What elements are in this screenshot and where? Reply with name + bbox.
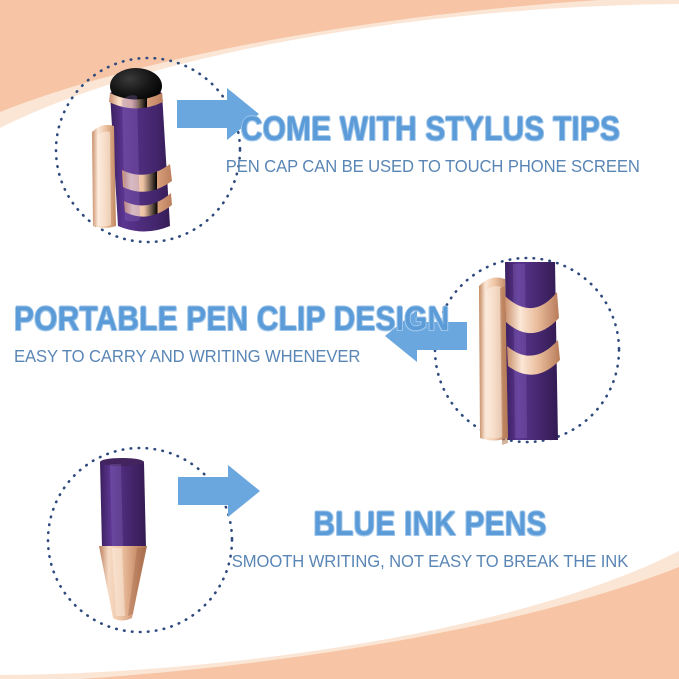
headline-blue-ink: BLUE INK PENS [241, 507, 619, 542]
headline-stylus-tips: COME WITH STYLUS TIPS [241, 112, 619, 147]
subline-pen-clip: EASY TO CARRY AND WRITING WHENEVER [14, 346, 385, 366]
copy-pen-clip: PORTABLE PEN CLIP DESIGN EASY TO CARRY A… [14, 302, 404, 366]
feature-stylus-tips: COME WITH STYLUS TIPS PEN CAP CAN BE USE… [0, 0, 679, 240]
product-infographic-poster: COME WITH STYLUS TIPS PEN CAP CAN BE USE… [0, 0, 679, 679]
headline-pen-clip: PORTABLE PEN CLIP DESIGN [14, 302, 357, 337]
copy-blue-ink: BLUE INK PENS SMOOTH WRITING, NOT EASY T… [215, 507, 645, 571]
subline-blue-ink: SMOOTH WRITING, NOT EASY TO BREAK THE IN… [226, 551, 635, 571]
feature-blue-ink: BLUE INK PENS SMOOTH WRITING, NOT EASY T… [0, 435, 679, 635]
copy-stylus-tips: COME WITH STYLUS TIPS PEN CAP CAN BE USE… [215, 112, 645, 176]
subline-stylus-tips: PEN CAP CAN BE USED TO TOUCH PHONE SCREE… [226, 156, 635, 176]
feature-pen-clip: PORTABLE PEN CLIP DESIGN EASY TO CARRY A… [0, 240, 679, 440]
